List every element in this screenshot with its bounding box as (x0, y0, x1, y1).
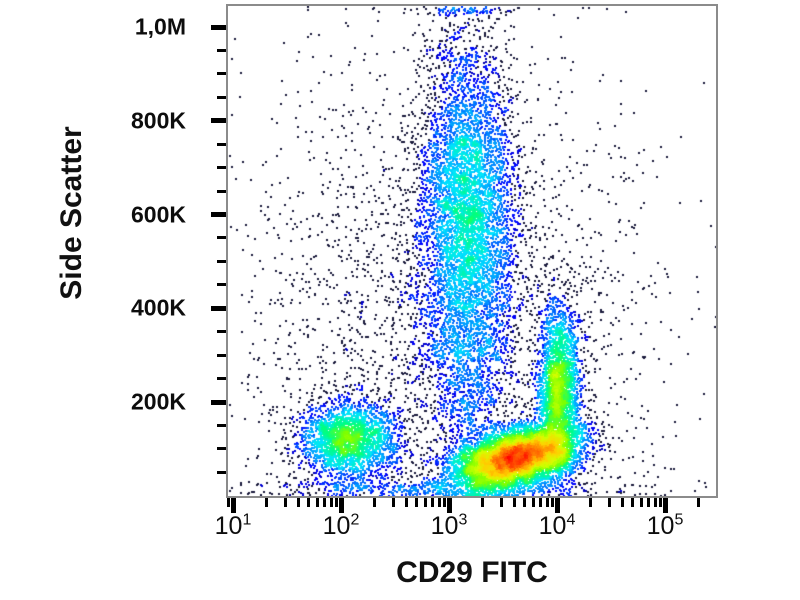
x-axis-minor-tick (424, 498, 427, 507)
x-axis-minor-tick (265, 498, 268, 507)
x-axis-minor-tick (335, 498, 338, 507)
x-axis-minor-tick (443, 498, 446, 507)
x-axis-minor-tick (481, 498, 484, 507)
x-axis-title: CD29 FITC (226, 556, 718, 590)
x-axis-minor-tick (316, 498, 319, 507)
x-axis-minor-tick (654, 498, 657, 507)
x-axis-minor-tick (640, 498, 643, 507)
x-axis-minor-tick (392, 498, 395, 507)
x-axis-minor-tick (551, 498, 554, 507)
x-axis-tick-label: 101 (215, 512, 252, 541)
x-axis-minor-tick (373, 498, 376, 507)
y-axis-minor-tick (217, 190, 226, 193)
x-axis-minor-tick (523, 498, 526, 507)
x-axis-minor-tick (608, 498, 611, 507)
y-axis-minor-tick (217, 354, 226, 357)
x-axis-minor-tick (500, 498, 503, 507)
x-axis-major-tick (231, 498, 236, 513)
y-axis-tick-label: 800K (131, 107, 186, 134)
x-axis-minor-tick (415, 498, 418, 507)
x-axis-tick-label: 104 (539, 512, 576, 541)
y-axis-minor-tick (217, 49, 226, 52)
y-axis-major-tick (211, 212, 226, 217)
y-axis-tick-labels: 200K400K600K800K1,0M (0, 0, 208, 600)
y-axis-minor-tick (217, 377, 226, 380)
x-axis-minor-tick (697, 498, 700, 507)
x-axis-tick-label: 103 (431, 512, 468, 541)
x-axis-tick-label: 105 (647, 512, 684, 541)
scatter-density-canvas (228, 6, 716, 496)
y-axis-minor-tick (217, 471, 226, 474)
y-axis-minor-tick (217, 166, 226, 169)
x-axis-minor-tick (323, 498, 326, 507)
x-axis-major-tick (663, 498, 668, 513)
y-axis-major-tick (211, 118, 226, 123)
y-axis-major-tick (211, 400, 226, 405)
x-axis-major-tick (555, 498, 560, 513)
y-axis-ticks (208, 0, 226, 600)
x-axis-minor-tick (546, 498, 549, 507)
x-axis-minor-tick (647, 498, 650, 507)
x-axis-tick-label: 102 (323, 512, 360, 541)
x-axis-minor-tick (539, 498, 542, 507)
x-axis-minor-tick (438, 498, 441, 507)
x-axis-minor-tick (621, 498, 624, 507)
y-axis-minor-tick (217, 283, 226, 286)
y-axis-tick-label: 200K (131, 389, 186, 416)
x-axis-minor-tick (297, 498, 300, 507)
x-axis-minor-tick (284, 498, 287, 507)
y-axis-major-tick (211, 306, 226, 311)
x-axis-minor-tick (532, 498, 535, 507)
y-axis-title: Side Scatter (55, 103, 89, 323)
y-axis-minor-tick (217, 96, 226, 99)
x-axis-minor-tick (431, 498, 434, 507)
flow-cytometry-plot-page: 200K400K600K800K1,0M Side Scatter 101102… (0, 0, 800, 600)
y-axis-minor-tick (217, 72, 226, 75)
y-axis-minor-tick (217, 143, 226, 146)
x-axis-tick-labels: 101102103104105 (226, 512, 718, 556)
y-axis-minor-tick (217, 260, 226, 263)
y-axis-minor-tick (217, 447, 226, 450)
x-axis-minor-tick (227, 498, 230, 507)
y-axis-minor-tick (217, 236, 226, 239)
y-axis-minor-tick (217, 424, 226, 427)
x-axis-minor-tick (631, 498, 634, 507)
y-axis-tick-label: 400K (131, 295, 186, 322)
x-axis-major-tick (339, 498, 344, 513)
y-axis-major-tick (211, 25, 226, 30)
x-axis-minor-tick (513, 498, 516, 507)
x-axis-minor-tick (589, 498, 592, 507)
y-axis-tick-label: 600K (131, 201, 186, 228)
x-axis-minor-tick (405, 498, 408, 507)
y-axis-tick-label: 1,0M (135, 14, 186, 41)
x-axis-minor-tick (659, 498, 662, 507)
x-axis-major-tick (447, 498, 452, 513)
x-axis-minor-tick (307, 498, 310, 507)
y-axis-minor-tick (217, 330, 226, 333)
x-axis-minor-tick (330, 498, 333, 507)
